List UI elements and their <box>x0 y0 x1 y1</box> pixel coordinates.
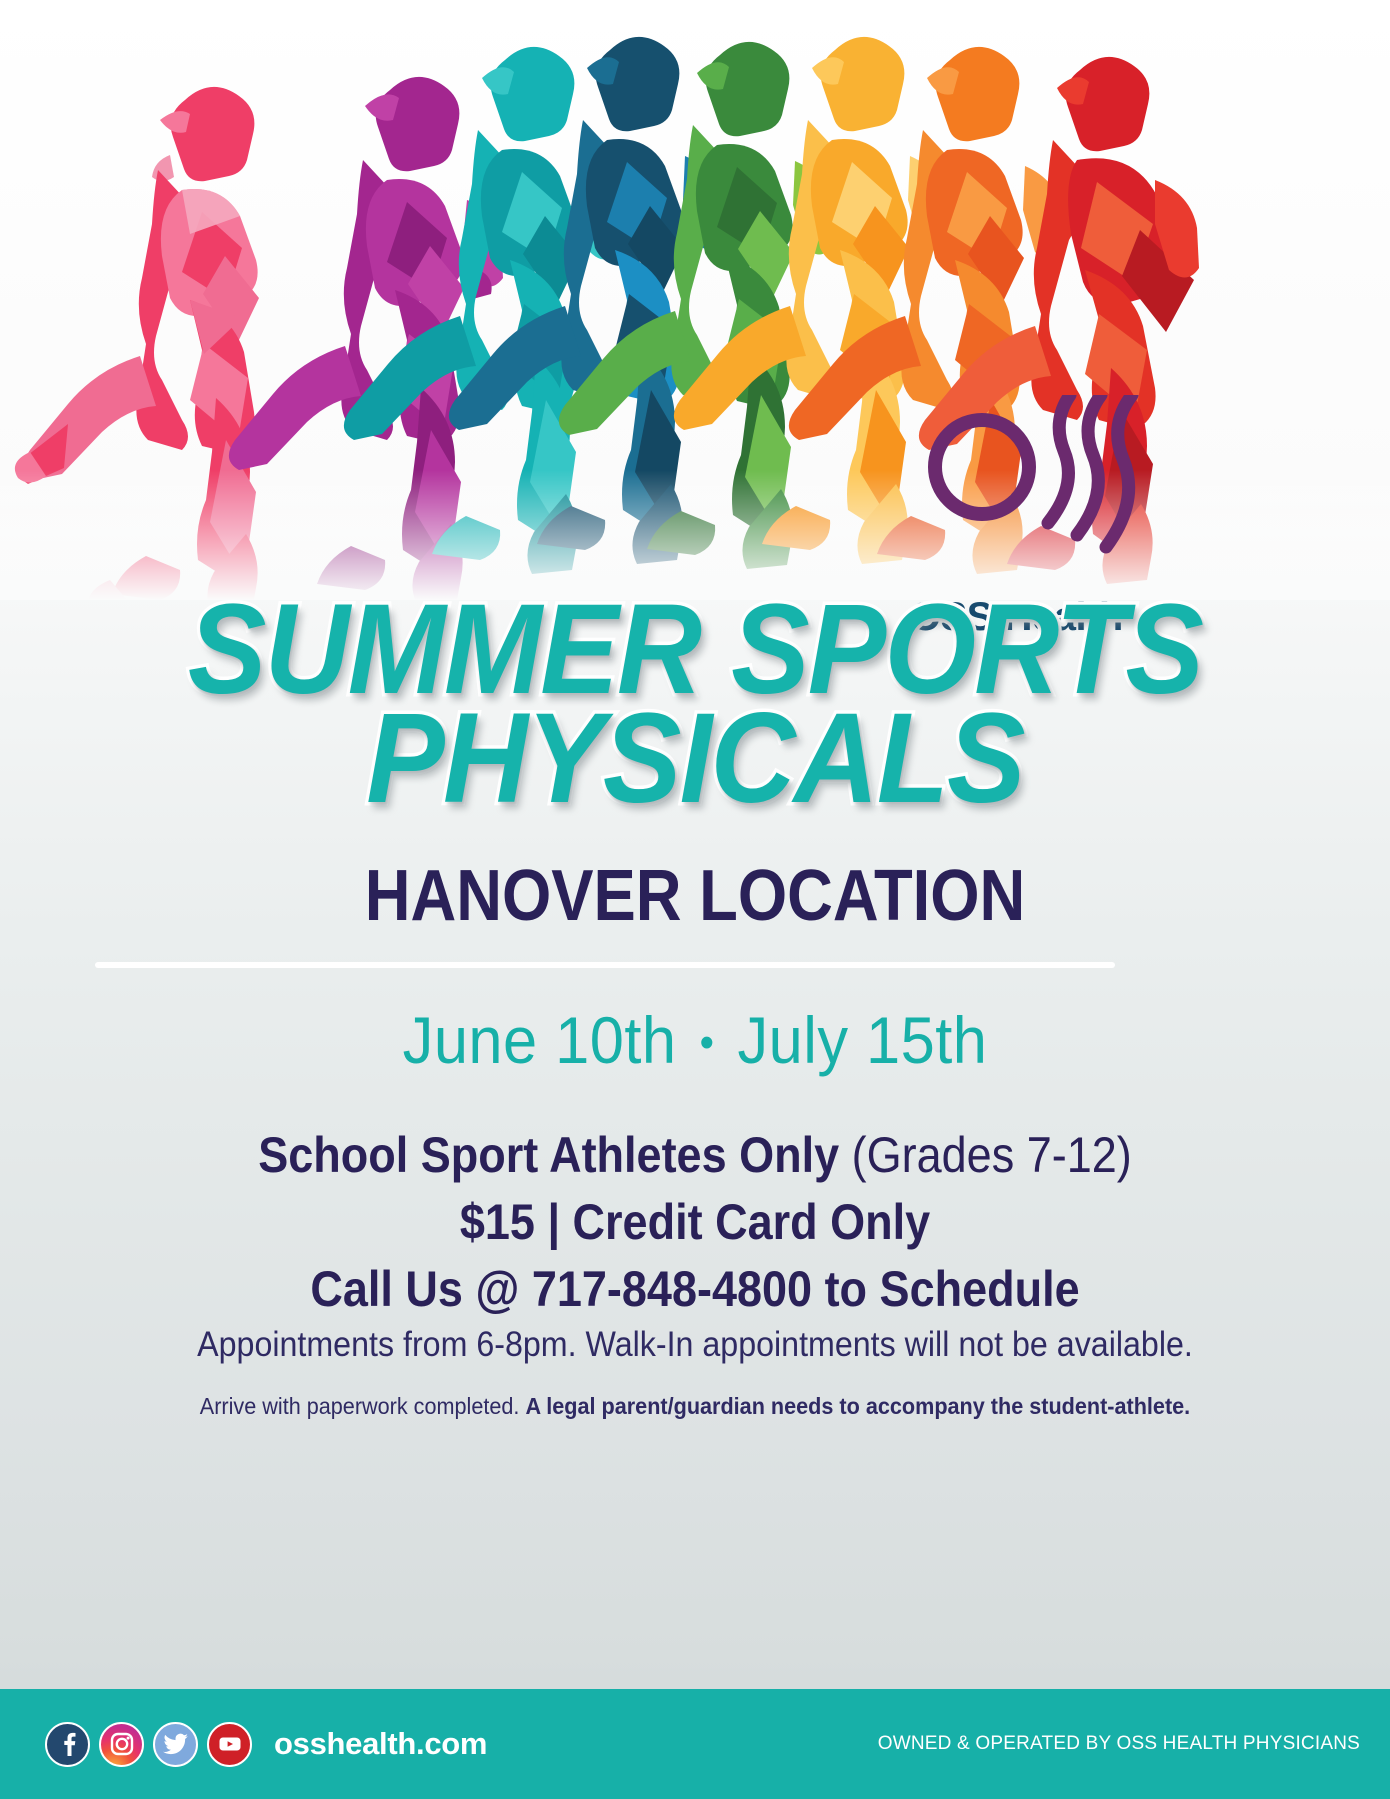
owned-operated-text: OWNED & OPERATED BY OSS HEALTH PHYSICIAN… <box>878 1733 1360 1755</box>
flyer-page: OSS Health SUMMER SPORTS PHYSICALS HANOV… <box>0 0 1390 1799</box>
page-title-line2: PHYSICALS <box>56 699 1335 818</box>
footer-bar: osshealth.com OWNED & OPERATED BY OSS HE… <box>0 1689 1390 1799</box>
facebook-glyph <box>57 1731 79 1757</box>
oss-swoosh-icon <box>920 395 1220 605</box>
fineprint-light: Arrive with paperwork completed. <box>200 1393 526 1419</box>
fineprint-note: Arrive with paperwork completed. A legal… <box>42 1393 1349 1420</box>
event-dates: June 10th • July 15th <box>49 1002 1342 1078</box>
date-second: July 15th <box>737 1003 987 1077</box>
fineprint-bold: A legal parent/guardian needs to accompa… <box>525 1393 1190 1419</box>
twitter-glyph <box>163 1733 189 1755</box>
detail-eligibility-bold: School Sport Athletes Only <box>258 1127 839 1183</box>
instagram-icon[interactable] <box>99 1722 144 1767</box>
detail-eligibility: School Sport Athletes Only (Grades 7-12) <box>70 1125 1321 1186</box>
twitter-icon[interactable] <box>153 1722 198 1767</box>
details-block: School Sport Athletes Only (Grades 7-12)… <box>0 1125 1390 1320</box>
youtube-icon[interactable] <box>207 1722 252 1767</box>
title-block: SUMMER SPORTS PHYSICALS <box>0 590 1390 818</box>
date-first: June 10th <box>403 1003 677 1077</box>
detail-phone: Call Us @ 717-848-4800 to Schedule <box>70 1259 1321 1320</box>
social-links <box>45 1722 252 1767</box>
facebook-icon[interactable] <box>45 1722 90 1767</box>
location-subtitle: HANOVER LOCATION <box>83 855 1306 937</box>
detail-price: $15 | Credit Card Only <box>70 1192 1321 1253</box>
date-separator: • <box>694 1018 720 1067</box>
appointment-note: Appointments from 6-8pm. Walk-In appoint… <box>56 1325 1335 1365</box>
youtube-glyph <box>217 1734 243 1754</box>
divider-rule <box>95 962 1115 968</box>
detail-eligibility-grades: (Grades 7-12) <box>839 1127 1132 1183</box>
website-link[interactable]: osshealth.com <box>274 1726 487 1762</box>
instagram-glyph <box>109 1731 135 1757</box>
